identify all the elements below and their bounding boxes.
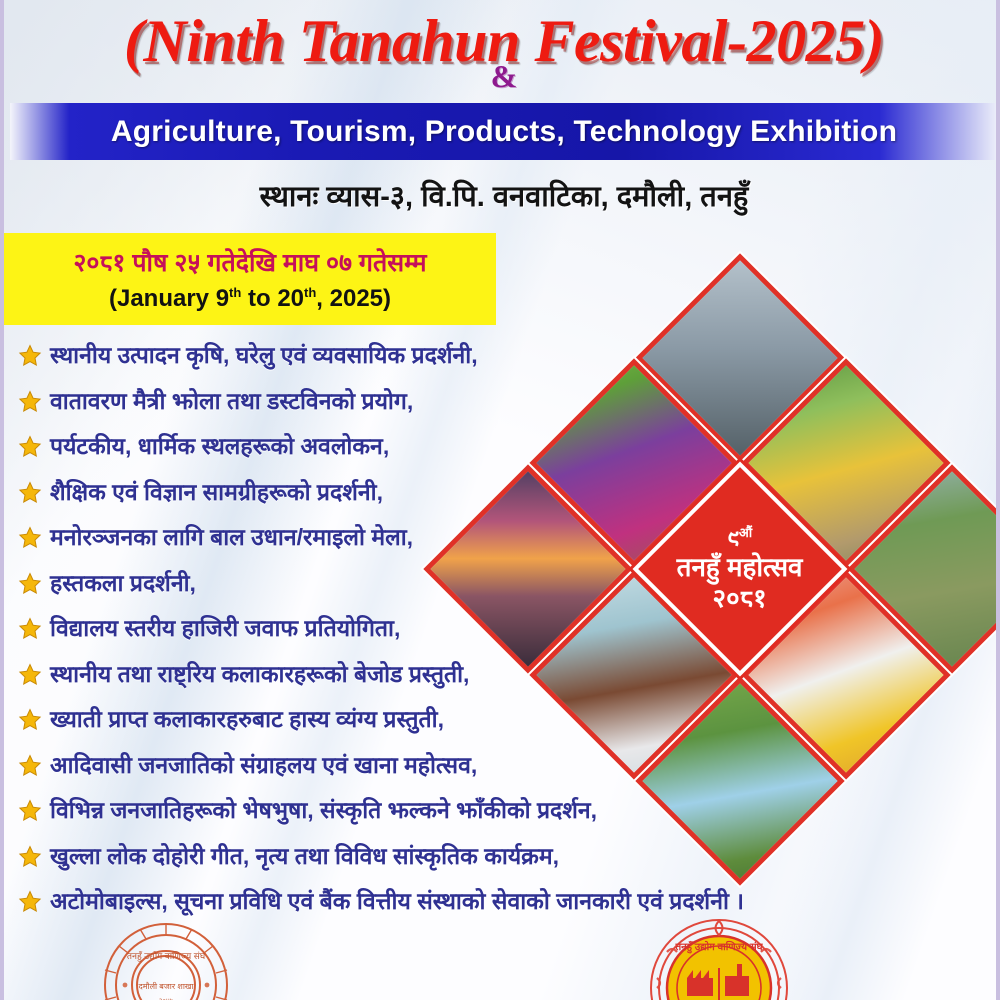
list-item-label: वातावरण मैत्री झोला तथा डस्टविनको प्रयोग…	[50, 386, 413, 416]
svg-text:तनहुँ उद्योग वाणिज्य संघ: तनहुँ उद्योग वाणिज्य संघ	[127, 950, 206, 962]
star-icon	[18, 890, 42, 914]
star-icon	[18, 344, 42, 368]
ampersand-symbol: &	[4, 58, 1000, 95]
list-item-label: मनोरञ्जनका लागि बाल उधान/रमाइलो मेला,	[50, 522, 413, 552]
list-item: मनोरञ्जनका लागि बाल उधान/रमाइलो मेला,	[18, 522, 888, 568]
chamber-of-commerce-seal-left: तनहुँ उद्योग वाणिज्य संघ दमौली बजार शाखा…	[102, 921, 230, 1000]
star-icon	[18, 526, 42, 550]
list-item: पर्यटकीय, धार्मिक स्थलहरूको अवलोकन,	[18, 431, 888, 477]
festival-poster: (Ninth Tanahun Festival-2025) & Agricult…	[0, 0, 1000, 1000]
chamber-of-commerce-seal-right: तनहुँ उद्योग वाणिज्य संघ TANAHU CHAMBER …	[649, 918, 789, 1000]
star-icon	[18, 754, 42, 778]
star-icon	[18, 435, 42, 459]
subtitle-banner-text: Agriculture, Tourism, Products, Technolo…	[111, 115, 897, 149]
list-item-label: हस्तकला प्रदर्शनी,	[50, 568, 196, 598]
date-ordinal-2: th	[304, 285, 316, 300]
star-icon	[18, 572, 42, 596]
list-item-label: पर्यटकीय, धार्मिक स्थलहरूको अवलोकन,	[50, 431, 389, 461]
list-item-label: शैक्षिक एवं विज्ञान सामग्रीहरूको प्रदर्श…	[50, 477, 383, 507]
list-item: हस्तकला प्रदर्शनी,	[18, 568, 888, 614]
list-item-label: खुल्ला लोक दोहोरी गीत, नृत्य तथा विविध स…	[50, 841, 559, 871]
star-icon	[18, 663, 42, 687]
list-item: वातावरण मैत्री झोला तथा डस्टविनको प्रयोग…	[18, 386, 888, 432]
list-item: आदिवासी जनजातिको संग्राहलय एवं खाना महोत…	[18, 750, 888, 796]
star-icon	[18, 799, 42, 823]
star-icon	[18, 481, 42, 505]
star-icon	[18, 708, 42, 732]
list-item-label: आदिवासी जनजातिको संग्राहलय एवं खाना महोत…	[50, 750, 477, 780]
date-block: २०८१ पौष २५ गतेदेखि माघ ०७ गतेसम्म (Janu…	[4, 233, 496, 325]
list-item-label: ख्याती प्राप्त कलाकारहरुबाट हास्य व्यंग्…	[50, 704, 444, 734]
list-item: खुल्ला लोक दोहोरी गीत, नृत्य तथा विविध स…	[18, 841, 888, 887]
date-ordinal-1: th	[229, 285, 241, 300]
program-highlights-list: स्थानीय उत्पादन कृषि, घरेलु एवं व्यवसायि…	[18, 340, 888, 932]
list-item-label: विद्यालय स्तरीय हाजिरी जवाफ प्रतियोगिता,	[50, 613, 400, 643]
list-item: स्थानीय तथा राष्ट्रिय कलाकारहरूको बेजोड …	[18, 659, 888, 705]
star-icon	[18, 390, 42, 414]
list-item: ख्याती प्राप्त कलाकारहरुबाट हास्य व्यंग्…	[18, 704, 888, 750]
list-item: विद्यालय स्तरीय हाजिरी जवाफ प्रतियोगिता,	[18, 613, 888, 659]
list-item: शैक्षिक एवं विज्ञान सामग्रीहरूको प्रदर्श…	[18, 477, 888, 523]
date-english-suffix: , 2025)	[316, 285, 391, 312]
star-icon	[18, 845, 42, 869]
date-english-prefix: (January 9	[109, 285, 229, 312]
list-item-label: स्थानीय तथा राष्ट्रिय कलाकारहरूको बेजोड …	[50, 659, 469, 689]
date-english: (January 9th to 20th, 2025)	[4, 285, 496, 313]
list-item-label: विभिन्न जनजातिहरूको भेषभुषा, संस्कृति झल…	[50, 795, 597, 825]
venue-line: स्थानः व्यास-३, वि.पि. वनवाटिका, दमौली, …	[4, 176, 1000, 215]
subtitle-banner: Agriculture, Tourism, Products, Technolo…	[10, 103, 998, 160]
svg-text:तनहुँ उद्योग वाणिज्य संघ: तनहुँ उद्योग वाणिज्य संघ	[674, 940, 763, 954]
date-nepali: २०८१ पौष २५ गतेदेखि माघ ०७ गतेसम्म	[4, 245, 496, 279]
list-item-label: अटोमोबाइल्स, सूचना प्रविधि एवं बैंक वित्…	[50, 886, 744, 916]
svg-text:दमौली बजार शाखा: दमौली बजार शाखा	[138, 981, 194, 991]
date-english-mid: to 20	[241, 285, 304, 312]
list-item: स्थानीय उत्पादन कृषि, घरेलु एवं व्यवसायि…	[18, 340, 888, 386]
list-item: विभिन्न जनजातिहरूको भेषभुषा, संस्कृति झल…	[18, 795, 888, 841]
list-item-label: स्थानीय उत्पादन कृषि, घरेलु एवं व्यवसायि…	[50, 340, 478, 370]
star-icon	[18, 617, 42, 641]
